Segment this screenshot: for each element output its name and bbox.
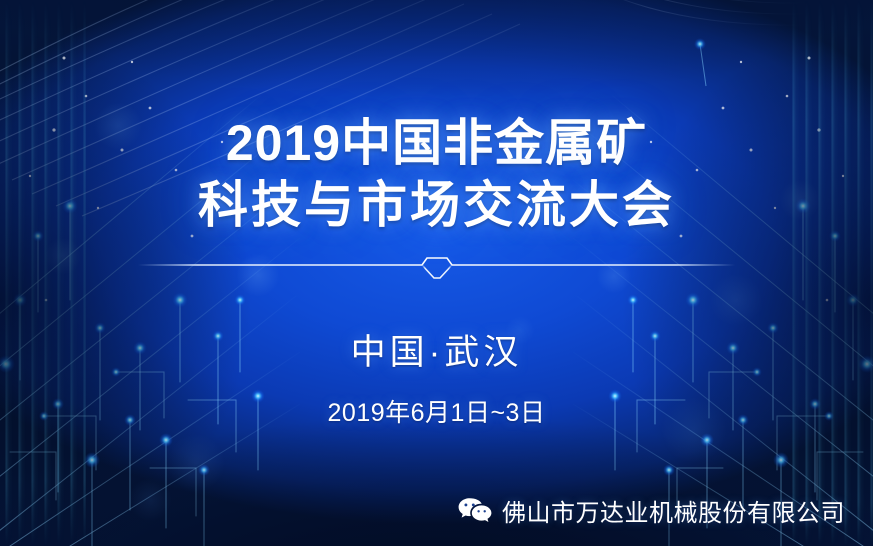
title-line-1: 2019中国非金属矿: [198, 118, 675, 168]
footer-credit: 佛山市万达业机械股份有限公司: [458, 493, 845, 528]
v-notch-divider-icon: [0, 252, 873, 288]
poster-title: 2019中国非金属矿 科技与市场交流大会: [198, 118, 675, 230]
poster-content: 2019中国非金属矿 科技与市场交流大会: [0, 0, 873, 546]
decorative-divider: [0, 252, 873, 288]
location-text: 中国·武汉: [351, 324, 523, 375]
company-name: 佛山市万达业机械股份有限公司: [502, 493, 845, 528]
wechat-icon: [458, 497, 492, 525]
title-line-2: 科技与市场交流大会: [198, 180, 675, 230]
conference-poster: 2019中国非金属矿 科技与市场交流大会: [0, 0, 873, 546]
date-text: 2019年6月1日~3日: [328, 393, 546, 429]
